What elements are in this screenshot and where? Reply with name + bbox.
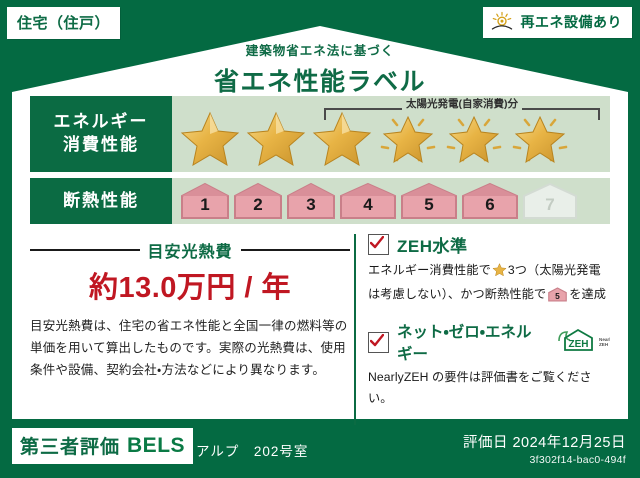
renewable-equipment-badge: 再エネ設備あり xyxy=(483,7,633,38)
insulation-level-4: 4 xyxy=(339,182,397,220)
insulation-level-1: 1 xyxy=(180,182,230,220)
cost-value: 約13.0万円 / 年 xyxy=(30,264,350,306)
cost-column: 目安光熱費 約13.0万円 / 年 目安光熱費は、住宅の省エネ性能と全国一律の燃… xyxy=(30,232,350,421)
star-solar-icon xyxy=(508,106,572,170)
title-subtitle: 建築物省エネ法に基づく xyxy=(0,40,640,59)
energy-performance-body: 太陽光発電(自家消費)分 xyxy=(172,96,610,172)
svg-text:ZEH: ZEH xyxy=(569,339,589,350)
star-icon xyxy=(310,106,374,170)
insulation-level-7: 7 xyxy=(522,182,578,220)
zeh-logo-icon: ZEH Nearly ZEH xyxy=(554,327,610,358)
insulation-performance-row: 断熱性能 1 2 3 xyxy=(30,178,610,224)
net-zero-energy-title: ネット・ゼロ・エネルギー xyxy=(397,320,542,364)
star-solar-icon xyxy=(376,106,440,170)
check-icon xyxy=(368,234,389,255)
zeh-standard-row: ZEH水準 xyxy=(368,232,610,257)
insulation-scale: 1 2 3 4 5 xyxy=(172,178,578,224)
star-icon xyxy=(178,106,242,170)
mini-house-icon: 5 xyxy=(548,287,567,309)
label-content: エネルギー 消費性能 太陽光発電(自家消費)分 xyxy=(30,96,610,421)
zeh-standard-title: ZEH水準 xyxy=(397,232,468,257)
bels-label-en: BELS xyxy=(127,434,185,458)
renewable-badge-label: 再エネ設備あり xyxy=(521,12,623,32)
net-zero-energy-row: ネット・ゼロ・エネルギー ZEH Nearly ZEH xyxy=(368,320,610,364)
zeh-desc-star-count: 3つ（太陽光発電 xyxy=(508,263,601,277)
rule-right xyxy=(241,249,351,251)
energy-label-line1: エネルギー xyxy=(54,111,149,134)
certification-column: ZEH水準 エネルギー消費性能で3つ（太陽光発電は考慮しない）、かつ断熱性能で5… xyxy=(350,232,610,421)
insulation-level-6: 6 xyxy=(461,182,519,220)
insulation-level-2: 2 xyxy=(233,182,283,220)
building-name: アルプ 202号室 xyxy=(196,440,308,460)
energy-performance-label: エネルギー 消費性能 xyxy=(30,96,172,172)
zeh-desc-part2: は考慮しない）、かつ断熱性能で xyxy=(368,287,546,301)
insulation-level-3: 3 xyxy=(286,182,336,220)
footer: 第三者評価 BELS アルプ 202号室 評価日 2024年12月25日 3f3… xyxy=(0,422,640,478)
evaluation-id: 3f302f14-bac0-494f xyxy=(463,454,626,466)
rule-left xyxy=(30,249,140,251)
energy-label-line2: 消費性能 xyxy=(63,134,139,157)
zeh-desc-part3: を達成 xyxy=(569,287,606,301)
insulation-performance-body: 1 2 3 4 5 xyxy=(172,178,610,224)
star-rating xyxy=(172,104,572,172)
energy-performance-row: エネルギー 消費性能 太陽光発電(自家消費)分 xyxy=(30,96,610,172)
check-icon xyxy=(368,332,389,353)
svg-text:5: 5 xyxy=(555,291,560,301)
energy-label-root: 住宅（住戸） 再エネ設備あり 建築物省エネ法に基づく 省エネ性能ラベル xyxy=(0,0,640,478)
star-solar-icon xyxy=(442,106,506,170)
bels-label-jp: 第三者評価 xyxy=(20,432,120,459)
bels-badge: 第三者評価 BELS xyxy=(12,428,193,464)
cost-heading: 目安光熱費 xyxy=(148,238,233,262)
zeh-desc-part1: エネルギー消費性能で xyxy=(368,263,491,277)
svg-text:ZEH: ZEH xyxy=(599,342,609,347)
insulation-performance-label: 断熱性能 xyxy=(30,178,172,224)
cost-note: 目安光熱費は、住宅の省エネ性能と全国一律の燃料等の単価を用いて算出したものです。… xyxy=(30,316,350,382)
title-block: 建築物省エネ法に基づく 省エネ性能ラベル xyxy=(0,40,640,98)
page-title: 省エネ性能ラベル xyxy=(0,62,640,98)
cost-heading-row: 目安光熱費 xyxy=(30,238,350,262)
house-type-tag: 住宅（住戸） xyxy=(7,7,120,39)
mini-star-icon xyxy=(492,262,507,284)
evaluation-info: 評価日 2024年12月25日 3f302f14-bac0-494f xyxy=(463,431,626,466)
insulation-level-5: 5 xyxy=(400,182,458,220)
net-zero-energy-desc: NearlyZEH の要件は評価書をご覧ください。 xyxy=(368,367,610,408)
bottom-columns: 目安光熱費 約13.0万円 / 年 目安光熱費は、住宅の省エネ性能と全国一律の燃… xyxy=(30,232,610,421)
star-icon xyxy=(244,106,308,170)
sun-icon xyxy=(489,11,515,33)
evaluation-date: 評価日 2024年12月25日 xyxy=(463,431,626,452)
zeh-standard-desc: エネルギー消費性能で3つ（太陽光発電は考慮しない）、かつ断熱性能で5を達成 xyxy=(368,260,610,308)
